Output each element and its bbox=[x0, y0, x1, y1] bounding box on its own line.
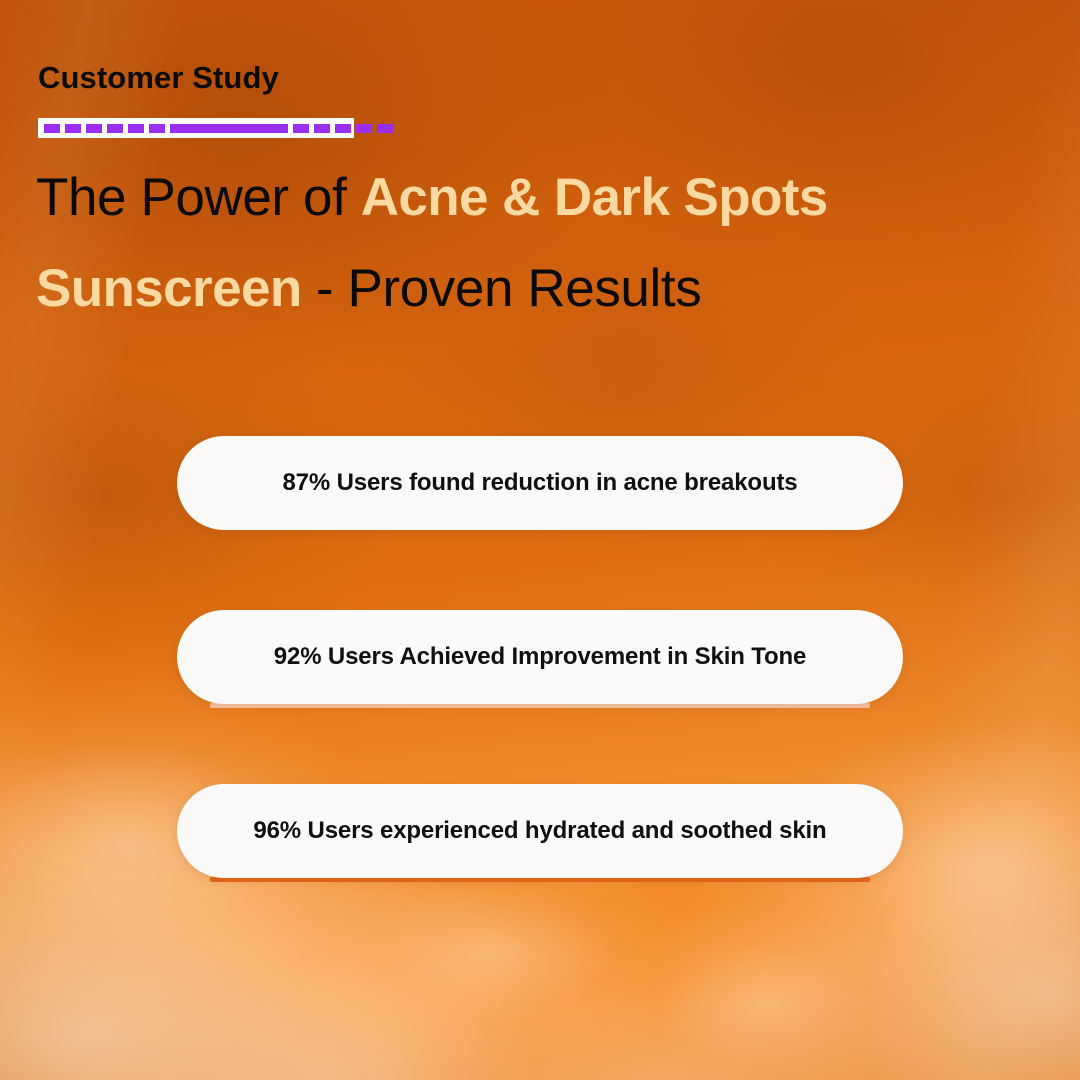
headline-segment-accent-1: Acne & Dark Spots bbox=[361, 168, 828, 227]
stat-card[interactable]: 92% Users Achieved Improvement in Skin T… bbox=[177, 610, 903, 704]
divider-dash bbox=[128, 124, 144, 133]
divider-dash bbox=[86, 124, 102, 133]
poster-canvas: Customer Study The Power of Acne & Dark … bbox=[0, 0, 1080, 1080]
divider-dash bbox=[356, 124, 372, 133]
headline-segment-plain-2: - Proven Results bbox=[302, 259, 702, 318]
divider-dash bbox=[293, 124, 309, 133]
divider-dash bbox=[314, 124, 330, 133]
stat-card[interactable]: 96% Users experienced hydrated and sooth… bbox=[177, 784, 903, 878]
stat-card-text: 96% Users experienced hydrated and sooth… bbox=[253, 817, 826, 845]
headline-segment-accent-2: Sunscreen bbox=[36, 259, 302, 318]
divider-dash bbox=[377, 124, 393, 133]
headline-segment-plain-1: The Power of bbox=[36, 168, 361, 227]
stat-item: 87% Users found reduction in acne breako… bbox=[177, 436, 903, 530]
page-title: The Power of Acne & Dark Spots Sunscreen… bbox=[36, 168, 1036, 319]
stat-list: 87% Users found reduction in acne breako… bbox=[177, 436, 903, 958]
eyebrow-label: Customer Study bbox=[38, 62, 279, 93]
stat-card[interactable]: 87% Users found reduction in acne breako… bbox=[177, 436, 903, 530]
divider-dash-solid bbox=[170, 124, 288, 133]
divider-dash bbox=[335, 124, 351, 133]
divider-dash bbox=[44, 124, 60, 133]
stat-item: 96% Users experienced hydrated and sooth… bbox=[177, 784, 903, 878]
stat-card-text: 92% Users Achieved Improvement in Skin T… bbox=[274, 643, 806, 671]
decorative-dashed-divider bbox=[38, 118, 354, 138]
poster-content: Customer Study The Power of Acne & Dark … bbox=[0, 0, 1080, 1080]
stat-card-text: 87% Users found reduction in acne breako… bbox=[282, 469, 797, 497]
headline-line-2: Sunscreen - Proven Results bbox=[36, 259, 1036, 318]
divider-dash bbox=[107, 124, 123, 133]
stat-item: 92% Users Achieved Improvement in Skin T… bbox=[177, 610, 903, 704]
divider-dash bbox=[65, 124, 81, 133]
divider-dash bbox=[149, 124, 165, 133]
